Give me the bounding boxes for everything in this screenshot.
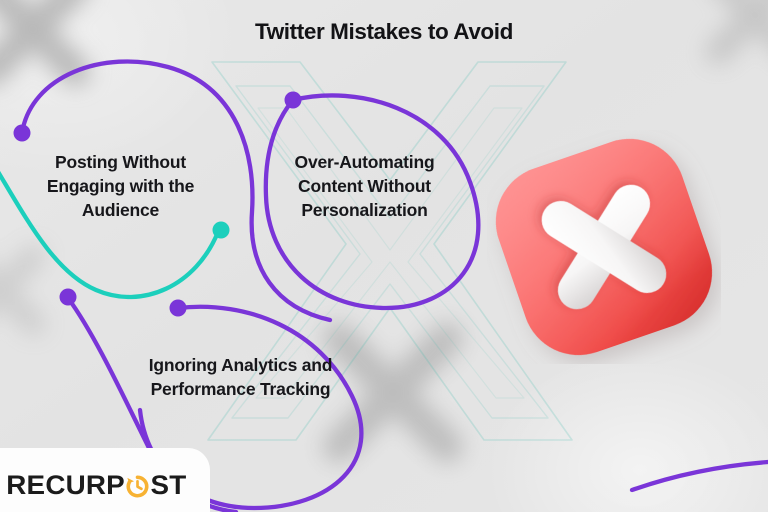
blurred-x-shape-mid-left [0, 230, 60, 350]
brand-logo-card: RECURP ST [0, 448, 210, 512]
infographic-canvas: Twitter Mistakes to Avoid Posting Withou… [0, 0, 768, 512]
mistake-label-2: Over-Automating Content Without Personal… [262, 150, 467, 222]
brand-logo: RECURP ST [8, 470, 185, 501]
mistake-label-1: Posting Without Engaging with the Audien… [18, 150, 223, 222]
mistake-label-3: Ignoring Analytics and Performance Track… [128, 353, 353, 401]
dot-purple-3 [60, 289, 77, 306]
logo-text-after: ST [150, 470, 186, 501]
dot-purple-4 [170, 300, 187, 317]
page-title: Twitter Mistakes to Avoid [0, 19, 768, 45]
dot-teal-1 [213, 222, 230, 239]
logo-text-before: RECURP [7, 470, 126, 501]
dot-purple-2 [285, 92, 302, 109]
blurred-x-shape-top-left [0, 0, 108, 104]
dot-purple-1 [14, 125, 31, 142]
red-x-3d-badge [487, 130, 721, 364]
clock-recurring-icon [125, 474, 150, 499]
